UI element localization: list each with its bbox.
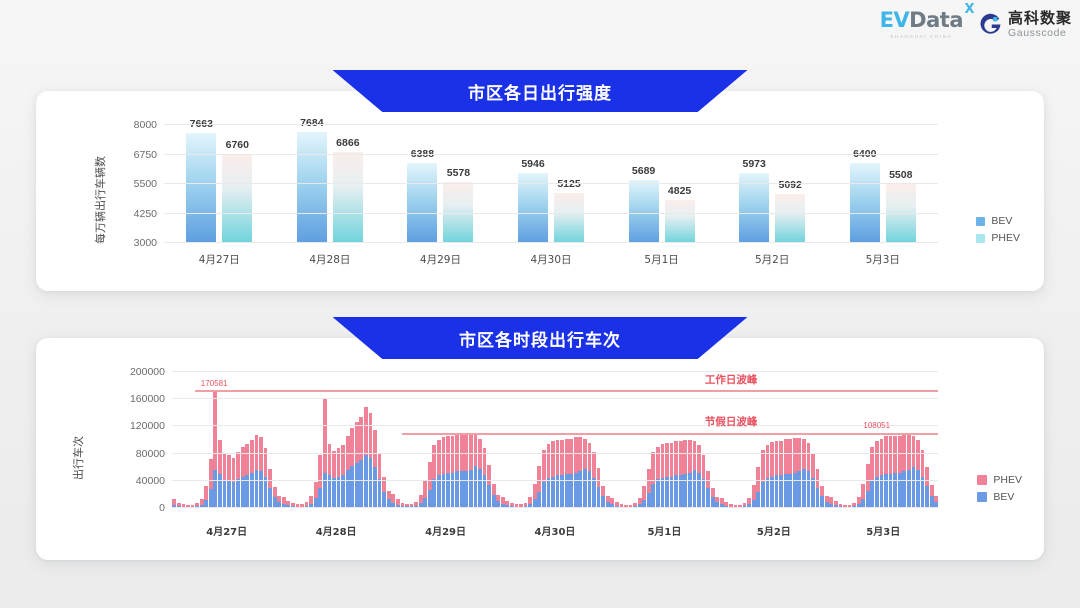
chart2-gridline [172,371,938,372]
chart1-bar-bev[interactable]: 7663 [186,133,216,243]
chart1-y-tick: 3000 [134,237,164,249]
chart1-bar-value: 5508 [889,169,912,181]
chart1-bar-group: 76636760 [164,125,275,243]
chart1-legend-label: BEV [991,215,1012,227]
chart1-bar-group: 59735092 [717,125,828,243]
chart1-bar-value: 6866 [336,137,359,149]
chart2-y-tick: 0 [159,502,172,514]
chart-daily-intensity: 每万辆出行车辆数 7663676076846866638855785946512… [54,119,1026,281]
chart2-gridline [172,480,938,481]
chart2-annotation-line [402,433,938,435]
evdata-wordmark: EVDataX [880,10,963,31]
chart1-bar-value: 5092 [778,179,801,191]
chart1-bar-value: 4825 [668,185,691,197]
chart2-legend-label: PHEV [993,474,1022,486]
chart2-annotation-label: 节假日波峰 [705,414,758,429]
chart1-y-tick: 4250 [134,208,164,220]
chart2-y-tick: 80000 [136,448,172,460]
chart2-legend-label: BEV [993,491,1014,503]
logo-bar: EVDataX SHANGHAI CHINA 高科数聚 Gausscode [880,10,1072,39]
chart1-bar-value: 5973 [742,158,765,170]
chart1-bar-phev[interactable]: 4825 [665,200,695,243]
chart2-legend-item-bev[interactable]: BEV [977,491,1022,503]
chart1-x-label: 4月30日 [496,252,607,267]
legend-swatch-icon [976,217,985,226]
chart2-y-tick: 160000 [130,393,172,405]
chart2-gridline [172,507,938,508]
chart1-x-label: 4月28日 [275,252,386,267]
chart1-plot-area: 7663676076846866638855785946512556894825… [164,125,938,243]
chart1-gridline [164,213,938,214]
chart1-y-tick: 5500 [134,178,164,190]
section-1-banner: 市区各日出行强度 [333,70,748,112]
evdata-word-data: Data [909,8,963,32]
gausscode-en: Gausscode [1008,28,1072,39]
chart1-x-axis-labels: 4月27日4月28日4月29日4月30日5月1日5月2日5月3日 [164,252,938,267]
chart1-x-label: 5月2日 [717,252,828,267]
evdata-logo: EVDataX SHANGHAI CHINA [880,10,963,39]
chart1-gridline [164,183,938,184]
chart1-legend-item-phev[interactable]: PHEV [976,232,1020,244]
chart1-bar-value: 6760 [226,139,249,151]
chart1-bar-group: 56894825 [606,125,717,243]
chart1-gridline [164,154,938,155]
chart2-gridline [172,398,938,399]
chart-card-1: 每万辆出行车辆数 7663676076846866638855785946512… [36,91,1044,291]
section-2-banner: 市区各时段出行车次 [333,317,748,359]
legend-swatch-icon [977,492,987,502]
chart2-x-label: 5月1日 [610,523,719,538]
evdata-subtitle: SHANGHAI CHINA [890,34,952,39]
chart1-legend-item-bev[interactable]: BEV [976,215,1020,227]
chart2-x-label: 4月27日 [172,523,281,538]
chart1-bar-group: 76846866 [275,125,386,243]
chart1-bar-bev[interactable]: 7684 [297,132,327,243]
chart1-bar-group: 63885578 [385,125,496,243]
chart2-x-label: 4月28日 [281,523,390,538]
chart2-gridline [172,425,938,426]
chart2-annotation-value: 108051 [863,421,890,430]
chart2-x-axis-labels: 4月27日4月28日4月29日4月30日5月1日5月2日5月3日 [172,523,938,538]
chart2-plot-area: 04000080000120000160000200000工作日波峰170581… [172,372,938,508]
chart1-bar-group: 64005508 [827,125,938,243]
chart1-bar-phev[interactable]: 5125 [554,193,584,243]
chart2-x-label: 4月30日 [500,523,609,538]
chart2-y-axis-label: 出行车次 [70,436,86,480]
chart1-x-label: 5月1日 [606,252,717,267]
chart1-legend-label: PHEV [991,232,1020,244]
chart1-legend: BEVPHEV [976,215,1020,244]
chart1-bar-value: 5578 [447,167,470,179]
chart1-bar-phev[interactable]: 6866 [333,152,363,243]
gausscode-text: 高科数聚 Gausscode [1008,11,1072,39]
chart-hourly-trips: 出行车次 04000080000120000160000200000工作日波峰1… [54,366,1026,550]
chart1-bar-bev[interactable]: 6400 [850,163,880,243]
chart1-x-label: 4月27日 [164,252,275,267]
chart1-y-axis-label: 每万辆出行车辆数 [92,156,108,244]
chart1-bar-value: 5689 [632,165,655,177]
chart2-y-tick: 40000 [136,475,172,487]
evdata-word-ev: EV [880,8,910,32]
evdata-x-icon: X [964,3,974,16]
chart-card-2: 出行车次 04000080000120000160000200000工作日波峰1… [36,338,1044,560]
chart1-bar-bev[interactable]: 5689 [629,180,659,243]
chart1-bar-groups: 7663676076846866638855785946512556894825… [164,125,938,243]
legend-swatch-icon [976,234,985,243]
chart2-x-label: 5月2日 [719,523,828,538]
gausscode-g-icon [979,13,1002,36]
chart1-bar-group: 59465125 [496,125,607,243]
chart2-legend: PHEVBEV [977,474,1022,503]
gausscode-cn: 高科数聚 [1008,11,1072,26]
chart2-gridline [172,453,938,454]
chart1-bar-phev[interactable]: 5092 [775,194,805,243]
chart2-annotation-value: 170581 [201,379,228,388]
chart2-stacked-bars [172,372,938,508]
chart1-y-tick: 8000 [134,119,164,131]
chart2-x-label: 5月3日 [829,523,938,538]
chart1-gridline [164,242,938,243]
chart2-legend-item-phev[interactable]: PHEV [977,474,1022,486]
chart2-x-label: 4月29日 [391,523,500,538]
chart2-y-tick: 200000 [130,366,172,378]
chart1-bar-value: 5946 [521,158,544,170]
chart2-annotation-label: 工作日波峰 [705,372,758,387]
chart1-y-tick: 6750 [134,149,164,161]
chart1-bar-phev[interactable]: 6760 [222,154,252,243]
gausscode-logo: 高科数聚 Gausscode [979,11,1072,39]
slide-page: EVDataX SHANGHAI CHINA 高科数聚 Gausscode 市区… [0,0,1080,608]
section-hourly-trips: 市区各时段出行车次 出行车次 0400008000012000016000020… [36,317,1044,560]
section-daily-intensity: 市区各日出行强度 每万辆出行车辆数 7663676076846866638855… [36,70,1044,291]
chart1-gridline [164,124,938,125]
chart1-x-label: 4月29日 [385,252,496,267]
legend-swatch-icon [977,475,987,485]
chart2-y-tick: 120000 [130,420,172,432]
section-2-title: 市区各时段出行车次 [459,326,621,351]
chart1-x-label: 5月3日 [827,252,938,267]
chart2-hour-column[interactable] [934,372,939,508]
chart1-bar-bev[interactable]: 6388 [407,163,437,243]
chart2-annotation-line [195,390,938,392]
section-1-title: 市区各日出行强度 [468,79,612,104]
